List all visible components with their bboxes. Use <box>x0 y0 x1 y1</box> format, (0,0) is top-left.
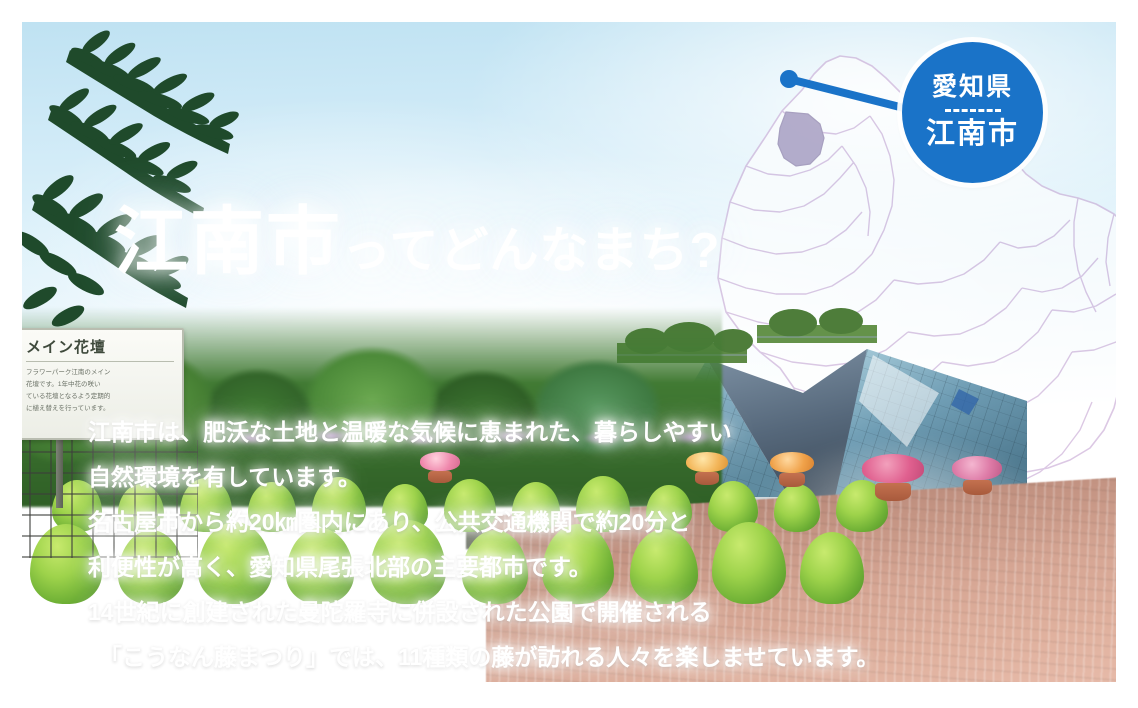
description-line: 利便性が高く、愛知県尾張北部の主要都市です。 <box>88 545 988 590</box>
location-badge: 愛知県 江南市 <box>902 42 1043 183</box>
page-title: 江南市 ってどんなまち? <box>114 205 720 279</box>
description-block: 江南市は、肥沃な土地と温暖な気候に恵まれた、暮らしやすい 自然環境を有しています… <box>88 410 988 680</box>
poster-root: メイン花壇 フラワーパーク江南のメイン 花壇です。1年中花の咲い ている花壇とな… <box>0 0 1138 708</box>
description-line: 名古屋市から約20㎞圏内にあり、公共交通機関で約20分と <box>88 500 988 545</box>
photo-frame: メイン花壇 フラワーパーク江南のメイン 花壇です。1年中花の咲い ている花壇とな… <box>22 22 1116 682</box>
description-line: 14世紀に創建された曼陀羅寺に併設された公園で開催される <box>88 590 988 635</box>
badge-divider <box>945 109 1001 112</box>
badge-city: 江南市 <box>926 118 1019 151</box>
sign-post <box>56 438 63 508</box>
page-title-main: 江南市 <box>114 205 342 279</box>
sign-title: メイン花壇 <box>26 336 174 357</box>
badge-prefecture: 愛知県 <box>932 73 1013 102</box>
description-line: 自然環境を有しています。 <box>88 455 988 500</box>
page-title-suffix: ってどんなまち? <box>342 227 720 276</box>
description-line: 江南市は、肥沃な土地と温暖な気候に恵まれた、暮らしやすい <box>88 410 988 455</box>
sign-body: フラワーパーク江南のメイン 花壇です。1年中花の咲い ている花壇となるよう定期的… <box>26 367 174 415</box>
description-line: 「こうなん藤まつり」では、11種類の藤が訪れる人々を楽しませています。 <box>88 635 988 680</box>
sign-divider <box>26 361 174 362</box>
